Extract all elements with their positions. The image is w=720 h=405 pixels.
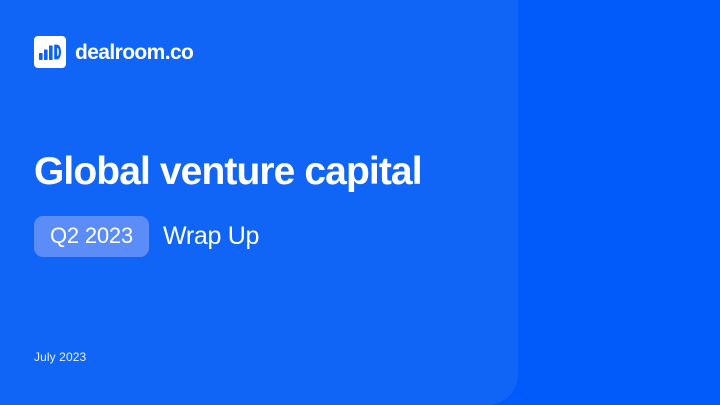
dealroom-wordmark: dealroom.co xyxy=(75,42,193,63)
dealroom-logo[interactable]: dealroom.co xyxy=(34,36,193,68)
presentation-slide: dealroom.co Global venture capital Q2 20… xyxy=(0,0,720,405)
page-title: Global venture capital xyxy=(34,152,422,193)
subtitle-row: Q2 2023 Wrap Up xyxy=(34,216,259,257)
subtitle-label: Wrap Up xyxy=(163,224,259,249)
publication-date: July 2023 xyxy=(34,351,86,363)
dealroom-bar-chart-d-icon xyxy=(34,36,66,68)
quarter-badge: Q2 2023 xyxy=(34,216,149,257)
